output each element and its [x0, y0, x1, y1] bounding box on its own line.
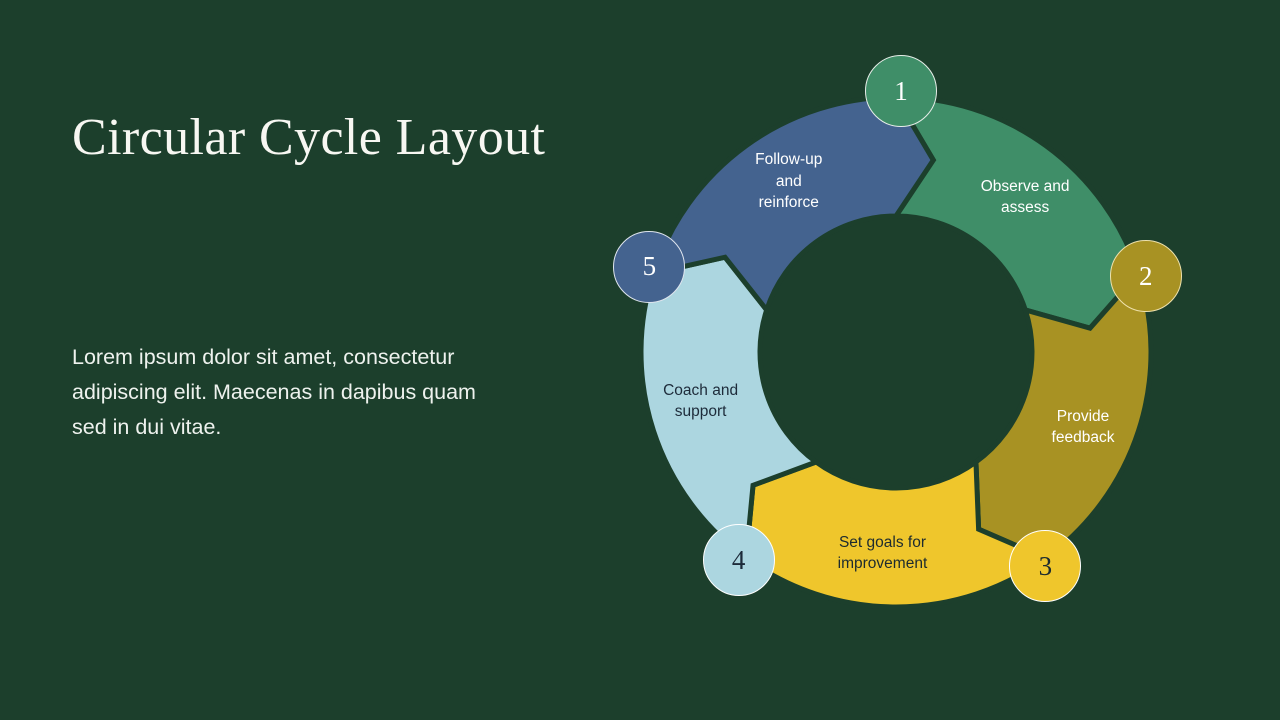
cycle-step-number-3: 3 [1039, 553, 1053, 580]
cycle-step-number-2: 2 [1139, 263, 1153, 290]
cycle-step-number-4: 4 [732, 547, 746, 574]
cycle-step-badge-2[interactable]: 2 [1110, 240, 1182, 312]
circular-cycle-diagram: Observe and assessProvide feedbackSet go… [600, 46, 1220, 666]
cycle-svg [600, 46, 1220, 666]
body-paragraph: Lorem ipsum dolor sit amet, consectetur … [72, 340, 492, 444]
cycle-step-number-1: 1 [894, 78, 908, 105]
cycle-step-badge-3[interactable]: 3 [1009, 530, 1081, 602]
cycle-step-badge-5[interactable]: 5 [613, 231, 685, 303]
cycle-step-badge-4[interactable]: 4 [703, 524, 775, 596]
left-text-column: Circular Cycle Layout [72, 108, 552, 168]
cycle-step-badge-1[interactable]: 1 [865, 55, 937, 127]
cycle-segment-1[interactable] [896, 97, 1139, 328]
page-title: Circular Cycle Layout [72, 108, 552, 168]
slide-canvas: Circular Cycle Layout Lorem ipsum dolor … [0, 0, 1280, 720]
cycle-step-number-5: 5 [643, 253, 657, 280]
